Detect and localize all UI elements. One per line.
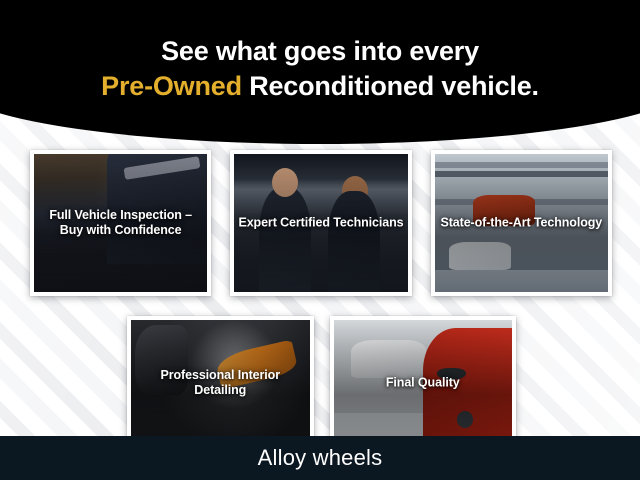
card-caption: Professional Interior Detailing (133, 367, 308, 398)
headline-line-1: See what goes into every (0, 34, 640, 69)
feature-card-expert-certified-technicians[interactable]: Expert Certified Technicians (230, 150, 411, 296)
feature-card-final-quality[interactable]: Final Quality (330, 316, 517, 449)
feature-card-professional-interior-detailing[interactable]: Professional Interior Detailing (127, 316, 314, 449)
card-caption-line-1: Final Quality (336, 375, 511, 390)
footer-caption-text: Alloy wheels (258, 445, 383, 471)
promo-graphic: See what goes into every Pre-Owned Recon… (0, 0, 640, 480)
footer-caption-bar: Alloy wheels (0, 436, 640, 480)
card-caption-line-1: Professional Interior (133, 367, 308, 382)
headline-line-2-rest: Reconditioned vehicle. (249, 71, 539, 101)
headline-highlight-pre-owned: Pre-Owned (101, 71, 242, 101)
feature-cards-top-row: Full Vehicle Inspection – Buy with Confi… (30, 150, 612, 296)
card-caption-line-1: Expert Certified Technicians (236, 215, 405, 230)
card-caption: State-of-the-Art Technology (437, 215, 606, 230)
feature-card-state-of-the-art-technology[interactable]: State-of-the-Art Technology (431, 150, 612, 296)
hero-header-panel: See what goes into every Pre-Owned Recon… (0, 0, 640, 144)
card-caption-line-2: Buy with Confidence (36, 223, 205, 238)
card-caption-line-1: State-of-the-Art Technology (437, 215, 606, 230)
card-caption: Full Vehicle Inspection – Buy with Confi… (36, 208, 205, 239)
card-caption-line-2: Detailing (133, 383, 308, 398)
headline-line-2: Pre-Owned Reconditioned vehicle. (0, 69, 640, 104)
card-caption: Final Quality (336, 375, 511, 390)
card-caption-line-1: Full Vehicle Inspection – (36, 208, 205, 223)
card-caption: Expert Certified Technicians (236, 215, 405, 230)
feature-card-full-vehicle-inspection[interactable]: Full Vehicle Inspection – Buy with Confi… (30, 150, 211, 296)
hero-headline-block: See what goes into every Pre-Owned Recon… (0, 34, 640, 104)
feature-cards-bottom-row: Professional Interior Detailing Final Qu… (127, 316, 516, 449)
